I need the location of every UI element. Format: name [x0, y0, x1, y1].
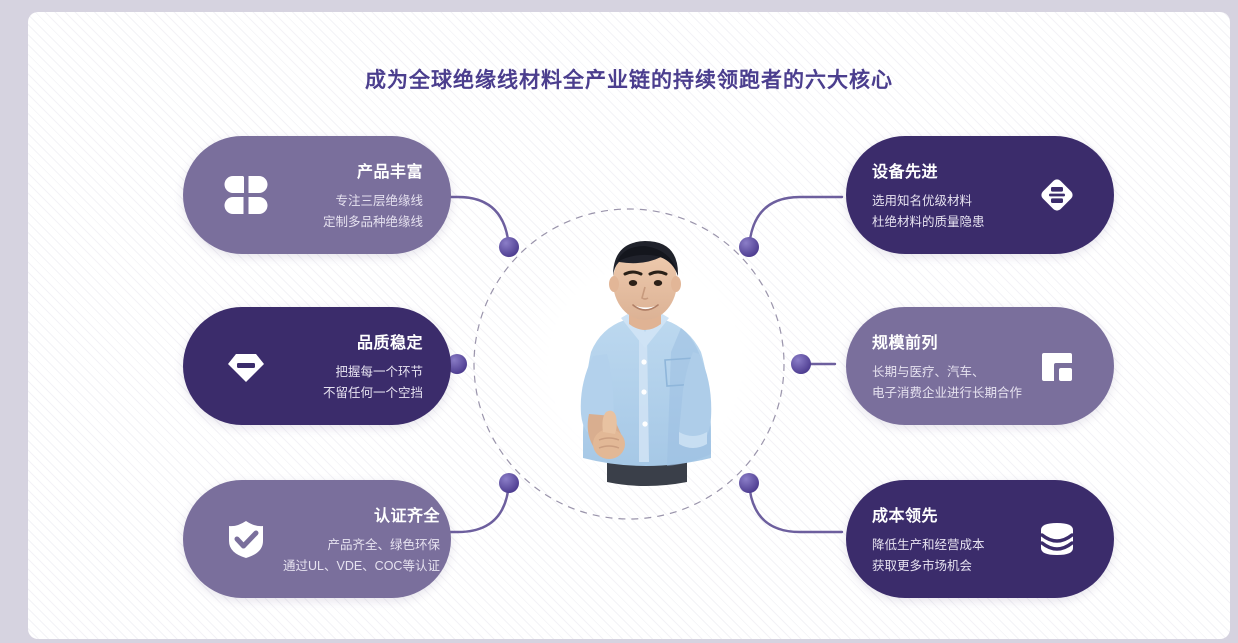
node-top-left	[499, 237, 519, 257]
blocks-icon	[1026, 335, 1088, 397]
card-text-block: 设备先进 选用知名优级材料 杜绝材料的质量隐患	[846, 158, 1026, 233]
card-line: 通过UL、VDE、COC等认证	[283, 556, 440, 577]
page-title: 成为全球绝缘线材料全产业链的持续领跑者的六大核心	[28, 64, 1230, 94]
card-line: 定制多品种绝缘线	[283, 212, 423, 233]
card-line: 选用知名优级材料	[872, 191, 1022, 212]
card-text-block: 规模前列 长期与医疗、汽车、 电子消费企业进行长期合作	[846, 329, 1026, 404]
card-quality-stable[interactable]: 品质稳定 把握每一个环节 不留任何一个空挡	[183, 307, 451, 425]
center-portrait	[547, 266, 743, 462]
shield-check-icon	[215, 508, 277, 570]
card-line: 降低生产和经营成本	[872, 535, 1022, 556]
card-text-block: 品质稳定 把握每一个环节 不留任何一个空挡	[277, 329, 451, 404]
card-title: 成本领先	[872, 502, 1022, 526]
diamond-settings-icon	[1026, 164, 1088, 226]
infographic-panel: 成为全球绝缘线材料全产业链的持续领跑者的六大核心	[28, 12, 1230, 639]
portrait-illustration	[521, 232, 769, 494]
node-bottom-left	[499, 473, 519, 493]
card-certification-complete[interactable]: 认证齐全 产品齐全、绿色环保 通过UL、VDE、COC等认证	[183, 480, 451, 598]
card-title: 产品丰富	[283, 158, 423, 182]
card-line: 不留任何一个空挡	[283, 383, 423, 404]
card-line: 杜绝材料的质量隐患	[872, 212, 1022, 233]
card-title: 认证齐全	[283, 502, 440, 526]
database-icon	[1026, 508, 1088, 570]
card-line: 把握每一个环节	[283, 362, 423, 383]
card-line: 长期与医疗、汽车、	[872, 362, 1022, 383]
clover-icon	[215, 164, 277, 226]
card-cost-leading[interactable]: 成本领先 降低生产和经营成本 获取更多市场机会	[846, 480, 1114, 598]
card-title: 设备先进	[872, 158, 1022, 182]
card-scale-leading[interactable]: 规模前列 长期与医疗、汽车、 电子消费企业进行长期合作	[846, 307, 1114, 425]
gem-icon	[215, 335, 277, 397]
card-text-block: 认证齐全 产品齐全、绿色环保 通过UL、VDE、COC等认证	[277, 502, 468, 577]
card-product-rich[interactable]: 产品丰富 专注三层绝缘线 定制多品种绝缘线	[183, 136, 451, 254]
card-text-block: 成本领先 降低生产和经营成本 获取更多市场机会	[846, 502, 1026, 577]
card-line: 电子消费企业进行长期合作	[872, 383, 1022, 404]
card-line: 专注三层绝缘线	[283, 191, 423, 212]
card-title: 规模前列	[872, 329, 1022, 353]
card-line: 产品齐全、绿色环保	[283, 535, 440, 556]
card-line: 获取更多市场机会	[872, 556, 1022, 577]
card-title: 品质稳定	[283, 329, 423, 353]
card-text-block: 产品丰富 专注三层绝缘线 定制多品种绝缘线	[277, 158, 451, 233]
node-mid-right	[791, 354, 811, 374]
card-equipment-advanced[interactable]: 设备先进 选用知名优级材料 杜绝材料的质量隐患	[846, 136, 1114, 254]
